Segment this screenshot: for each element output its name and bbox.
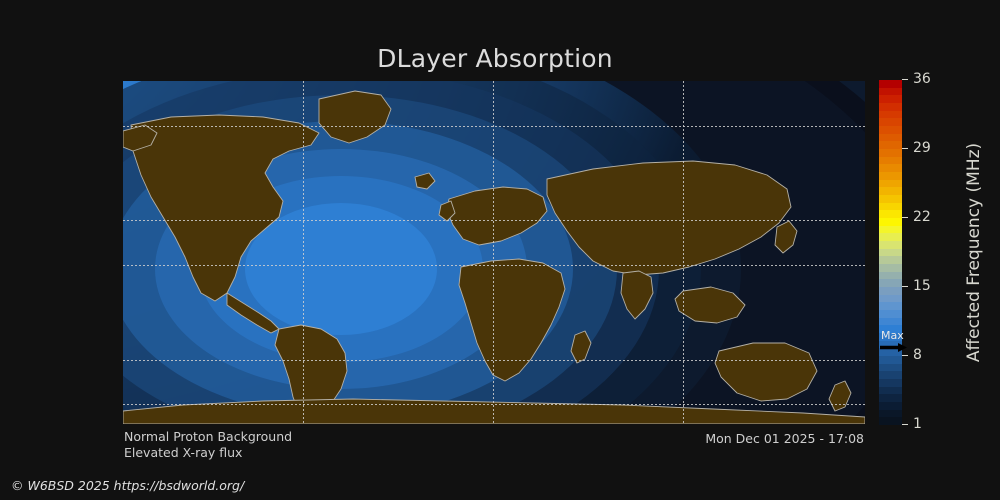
colorbar-band [879,379,902,387]
colorbar-band [879,287,902,295]
colorbar-tick-label: 36 [913,71,931,87]
colorbar-band [879,195,902,203]
xray-status-text: Elevated X-ray flux [124,445,292,461]
colorbar-band [879,226,902,233]
colorbar-band [879,364,902,371]
colorbar-band [879,295,902,302]
colorbar-band [879,371,902,379]
max-marker-label: Max [881,330,904,342]
colorbar-band [879,180,902,187]
map-plot-area[interactable] [123,81,865,424]
colorbar-band [879,118,902,126]
colorbar-band [879,103,902,111]
page-title: DLayer Absorption [0,44,990,73]
colorbar-band [879,164,902,172]
colorbar-band [879,149,902,157]
colorbar-band [879,318,902,325]
colorbar-tick-label: 15 [913,278,931,294]
colorbar-gradient [879,80,902,425]
colorbar-tick-mark [902,286,908,287]
proton-status-text: Normal Proton Background [124,429,292,445]
colorbar-band [879,95,902,103]
timestamp-label: Mon Dec 01 2025 - 17:08 [705,431,864,447]
colorbar-band [879,210,902,218]
colorbar-band [879,387,902,394]
colorbar-tick-mark [902,424,908,425]
colorbar-band [879,233,902,241]
colorbar-band [879,417,902,425]
colorbar-band [879,272,902,279]
colorbar-band [879,80,902,88]
colorbar-band [879,203,902,210]
max-value-marker: Max [879,330,919,360]
colorbar-band [879,394,902,402]
colorbar-tick-mark [902,79,908,80]
max-marker-arrow-icon [880,343,907,352]
colorbar-band [879,172,902,180]
world-map-svg [123,81,865,424]
colorbar-tick-label: 29 [913,140,931,156]
colorbar-band [879,187,902,195]
colorbar-band [879,157,902,164]
colorbar-band [879,256,902,264]
colorbar-band [879,264,902,272]
colorbar-band [879,134,902,141]
credit-footer: © W6BSD 2025 https://bsdworld.org/ [11,478,244,494]
status-notes: Normal Proton Background Elevated X-ray … [124,429,292,461]
colorbar-band [879,88,902,95]
colorbar-band [879,111,902,118]
colorbar-band [879,218,902,226]
colorbar-tick-group: 3629221581 [902,80,962,425]
colorbar-band [879,310,902,318]
colorbar[interactable] [879,80,902,425]
colorbar-band [879,279,902,287]
colorbar-tick-label: 1 [913,416,922,432]
colorbar-tick-mark [902,217,908,218]
colorbar-band [879,402,902,410]
colorbar-axis-label: Affected Frequency (MHz) [962,80,986,425]
colorbar-band [879,410,902,417]
colorbar-band [879,126,902,134]
colorbar-band [879,302,902,310]
figure-canvas: DLayer Absorption [0,0,1000,500]
colorbar-tick-label: 22 [913,209,931,225]
colorbar-band [879,241,902,249]
colorbar-band [879,141,902,149]
colorbar-tick-mark [902,148,908,149]
colorbar-band [879,249,902,256]
